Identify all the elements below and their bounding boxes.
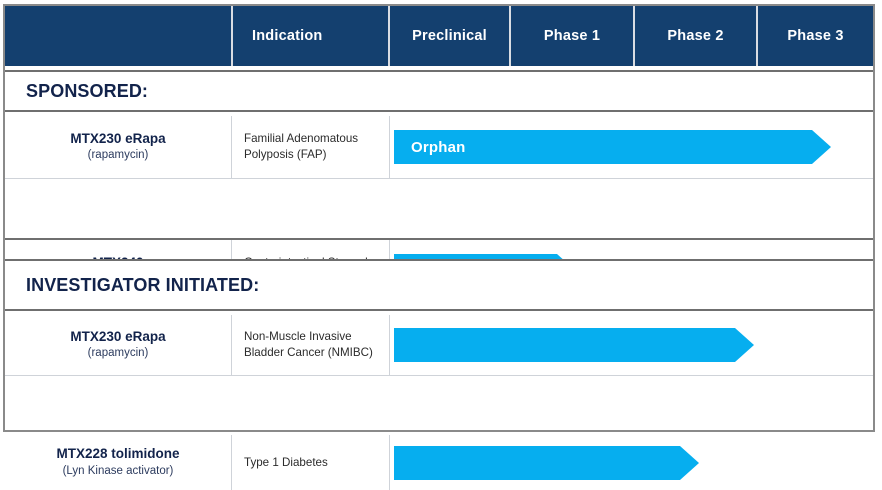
table-row: MTX230 eRapa (rapamycin) Familial Adenom… <box>5 116 873 178</box>
header-cell-indication: Indication <box>231 6 388 66</box>
pipeline-bar-body: Orphan <box>394 130 812 164</box>
row-divider <box>5 178 873 179</box>
drug-subtitle: (rapamycin) <box>88 346 149 361</box>
header-cell-phase-1: Phase 1 <box>509 6 633 66</box>
arrow-tip-icon <box>812 130 831 164</box>
section-title: INVESTIGATOR INITIATED: <box>5 275 259 296</box>
pipeline-bar[interactable]: Orphan <box>394 130 831 164</box>
pipeline-bar[interactable] <box>394 446 699 480</box>
indication-text: Non-Muscle Invasive Bladder Cancer (NMIB… <box>244 329 389 360</box>
section-rows-investigator-initiated: MTX230 eRapa (rapamycin) Non-Muscle Inva… <box>5 315 873 430</box>
drug-name: MTX230 eRapa <box>70 329 165 346</box>
indication-text: Type 1 Diabetes <box>244 455 389 471</box>
drug-subtitle: (Lyn Kinase activator) <box>63 464 174 479</box>
section-rows-sponsored: MTX230 eRapa (rapamycin) Familial Adenom… <box>5 116 873 240</box>
drug-subtitle: (rapamycin) <box>88 148 149 163</box>
header-cell-preclinical: Preclinical <box>388 6 509 66</box>
pipeline-bar-body <box>394 446 680 480</box>
header-cell-phase-2: Phase 2 <box>633 6 756 66</box>
row-divider <box>5 375 873 376</box>
indication-text: Familial Adenomatous Polyposis (FAP) <box>244 131 389 162</box>
table-header: Indication Preclinical Phase 1 Phase 2 P… <box>5 6 873 66</box>
section-header-sponsored: SPONSORED: <box>5 70 873 112</box>
pipeline-bar-body <box>394 328 735 362</box>
phase-track: Orphan <box>390 116 873 178</box>
header-cell-blank <box>5 6 231 66</box>
arrow-tip-icon <box>735 328 754 362</box>
phase-track <box>390 315 873 375</box>
table-row: MTX230 eRapa (rapamycin) Non-Muscle Inva… <box>5 315 873 375</box>
header-cell-phase-3: Phase 3 <box>756 6 873 66</box>
indication-cell: Type 1 Diabetes <box>231 435 390 490</box>
arrow-tip-icon <box>680 446 699 480</box>
drug-cell: MTX228 tolimidone (Lyn Kinase activator) <box>5 435 231 490</box>
indication-cell: Familial Adenomatous Polyposis (FAP) <box>231 116 390 178</box>
indication-cell: Non-Muscle Invasive Bladder Cancer (NMIB… <box>231 315 390 375</box>
drug-cell: MTX230 eRapa (rapamycin) <box>5 315 231 375</box>
pipeline-bar-label: Orphan <box>411 139 466 156</box>
section-header-investigator-initiated: INVESTIGATOR INITIATED: <box>5 259 873 311</box>
pipeline-bar[interactable] <box>394 328 754 362</box>
pipeline-chart: Indication Preclinical Phase 1 Phase 2 P… <box>3 4 875 432</box>
table-row: MTX228 tolimidone (Lyn Kinase activator)… <box>5 435 873 490</box>
phase-track <box>390 435 873 490</box>
section-title: SPONSORED: <box>5 81 148 102</box>
drug-name: MTX228 tolimidone <box>56 446 179 463</box>
drug-name: MTX230 eRapa <box>70 131 165 148</box>
drug-cell: MTX230 eRapa (rapamycin) <box>5 116 231 178</box>
